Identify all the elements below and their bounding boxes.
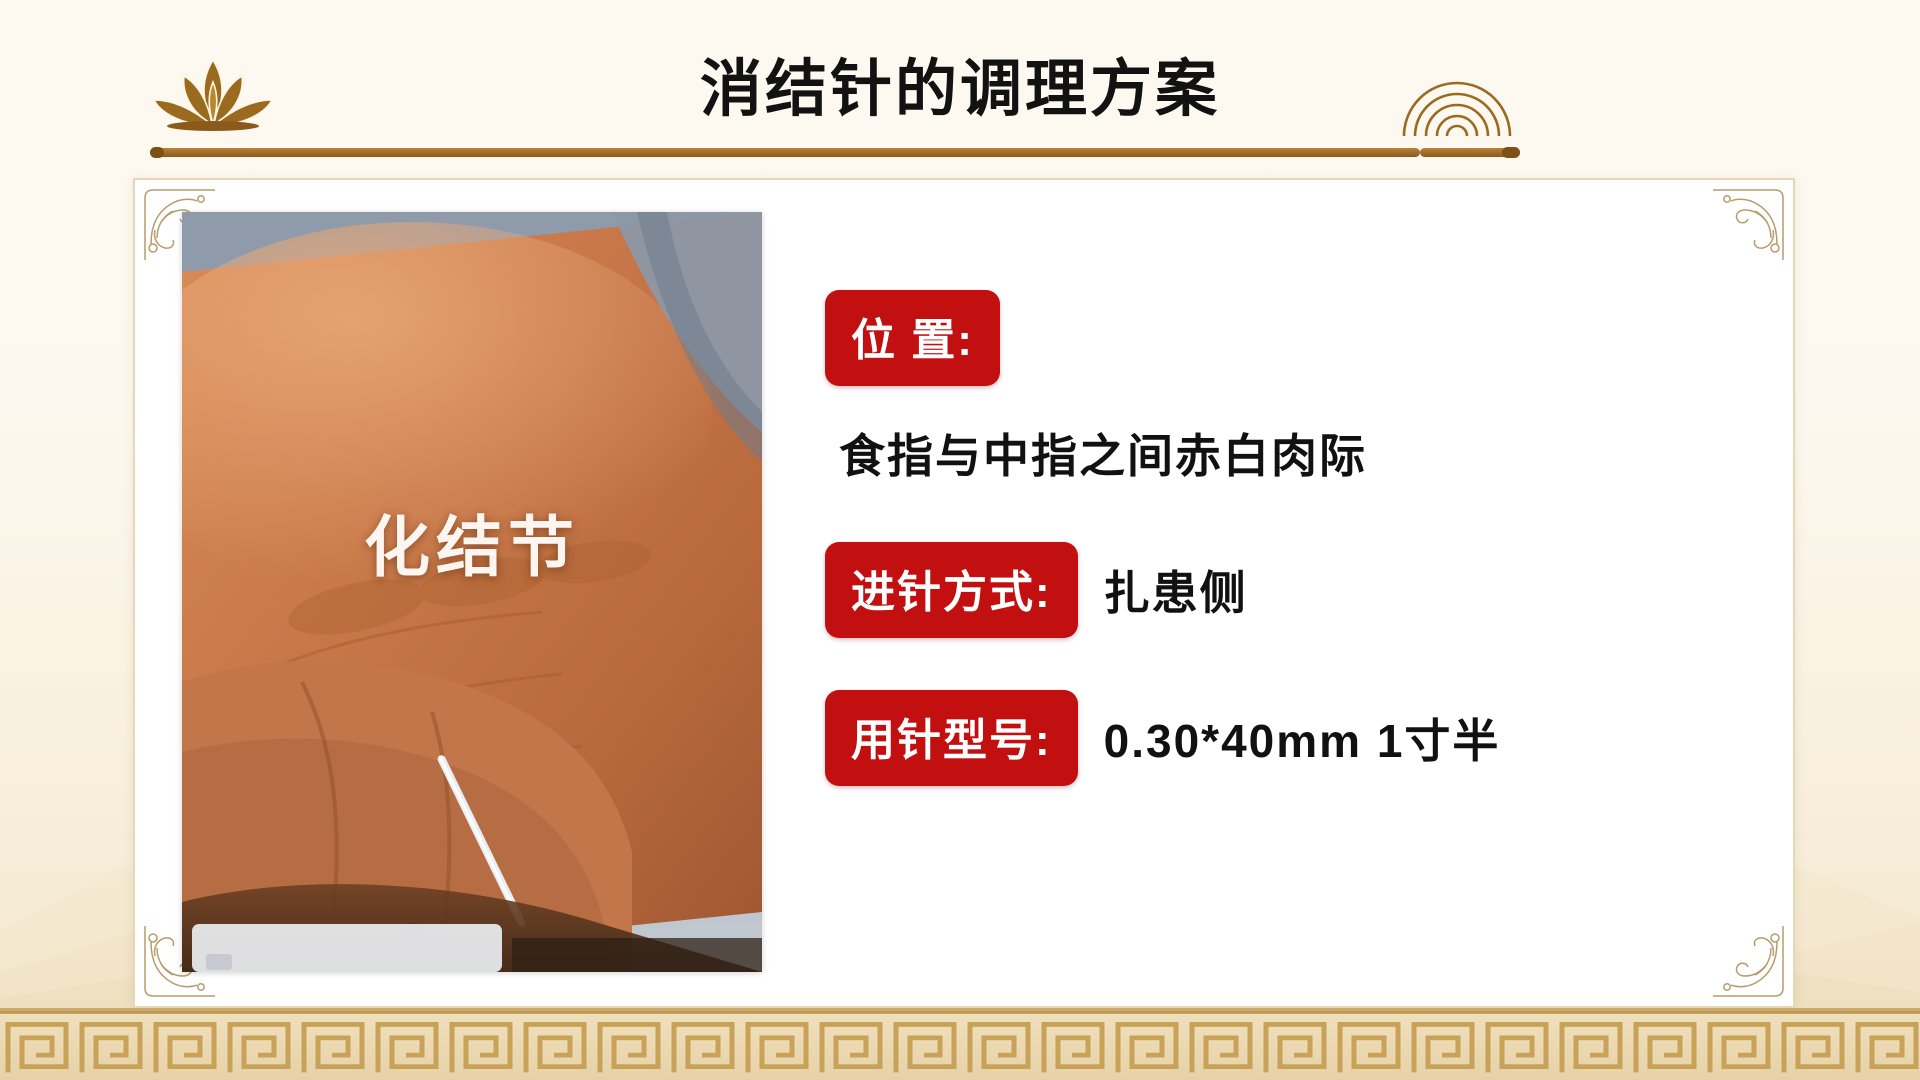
info-row-insertion-method: 进针方式: 扎患侧 bbox=[825, 542, 1733, 638]
slide-root: 消结针的调理方案 bbox=[0, 0, 1920, 1080]
insertion-method-value-text: 扎患侧 bbox=[1104, 557, 1248, 623]
filigree-corner-icon bbox=[1709, 186, 1787, 264]
info-row-needle-model: 用针型号: 0.30*40mm 1寸半 bbox=[825, 690, 1733, 786]
content-card: 化结节 位 置: 食指与中指之间赤白肉际 进针方式: 扎患侧 用针型号: 0.3… bbox=[133, 178, 1795, 1008]
treatment-info-panel: 位 置: 食指与中指之间赤白肉际 进针方式: 扎患侧 用针型号: 0.30*40… bbox=[825, 290, 1733, 946]
info-row-position: 位 置: bbox=[825, 290, 1733, 386]
info-row-position-value: 食指与中指之间赤白肉际 bbox=[825, 420, 1733, 486]
slide-header: 消结针的调理方案 bbox=[0, 0, 1920, 160]
greek-key-meander-border bbox=[0, 1008, 1920, 1080]
needle-model-value-text: 0.30*40mm 1寸半 bbox=[1104, 705, 1501, 771]
photo-caption: 化结节 bbox=[182, 494, 762, 590]
photo-image bbox=[182, 212, 762, 972]
page-title: 消结针的调理方案 bbox=[0, 38, 1920, 128]
position-value-text: 食指与中指之间赤白肉际 bbox=[839, 430, 1367, 482]
concentric-arcs-icon bbox=[1392, 60, 1522, 138]
needle-model-label-badge: 用针型号: bbox=[825, 690, 1078, 786]
insertion-method-label-badge: 进针方式: bbox=[825, 542, 1078, 638]
header-rule-left bbox=[150, 148, 1420, 157]
position-label-badge: 位 置: bbox=[825, 290, 1000, 386]
hand-acupuncture-photo: 化结节 bbox=[182, 212, 762, 972]
header-rule-right bbox=[1420, 148, 1520, 157]
